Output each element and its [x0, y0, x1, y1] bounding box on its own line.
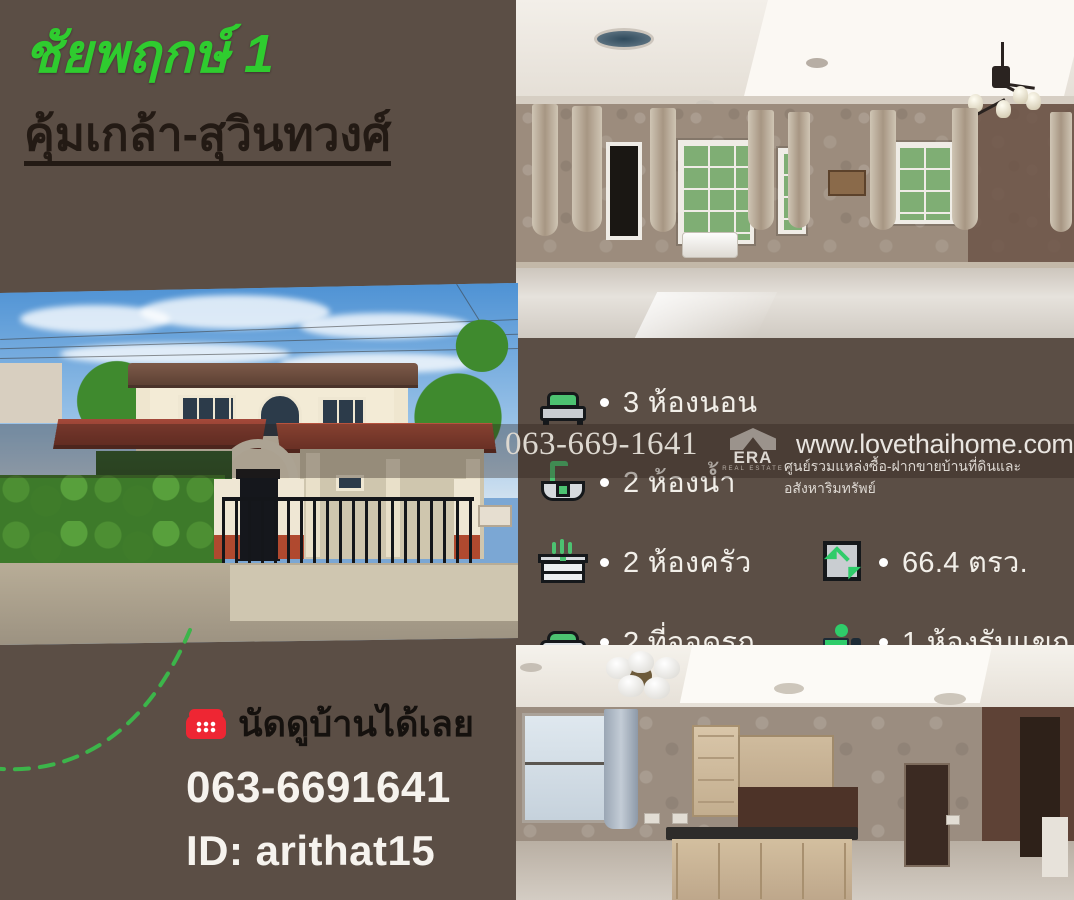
cta-row: นัดดูบ้านได้เลย — [186, 695, 474, 752]
curtain — [604, 709, 638, 829]
power-outlet — [946, 815, 960, 825]
curtain — [532, 104, 558, 236]
ceiling-vent-icon — [594, 28, 654, 50]
property-poster: ชัยพฤกษ์ 1 คุ้มเกล้า-สุวินทวงศ์ — [0, 0, 1074, 900]
feature-kitchens: 2 ห้องครัว — [516, 522, 795, 602]
bullet-dot — [600, 398, 609, 407]
downlight-icon — [806, 58, 828, 68]
power-outlet — [672, 813, 688, 824]
stove-icon — [538, 539, 588, 585]
driveway — [230, 565, 518, 621]
chandelier-icon — [966, 42, 1036, 112]
window — [522, 713, 614, 823]
contact-line-id[interactable]: ID: arithat15 — [186, 827, 435, 875]
feature-label: 66.4 ตรว. — [902, 539, 1028, 585]
cta-text: นัดดูบ้านได้เลย — [238, 695, 474, 752]
neighbor-house — [0, 363, 62, 423]
curtain — [788, 112, 810, 228]
photo-living-room — [516, 0, 1074, 338]
curtain — [952, 108, 978, 230]
bullet-dot — [879, 558, 888, 567]
feature-label: 2 ห้องครัว — [623, 539, 752, 585]
stair-railing — [1042, 817, 1068, 877]
curtain — [870, 110, 896, 230]
power-outlet — [644, 813, 660, 824]
floor-tiles — [516, 268, 1074, 338]
curtain — [572, 106, 602, 232]
era-logo: ERA REAL ESTATE — [716, 428, 790, 476]
bar-counter-cabinets — [672, 839, 852, 900]
mailbox — [478, 505, 512, 527]
window-dark — [606, 142, 642, 240]
project-name: ชัยพฤกษ์ 1 — [24, 26, 502, 83]
roof-main — [128, 363, 418, 385]
curtain — [650, 108, 676, 232]
air-conditioner — [682, 232, 738, 258]
feature-land-area: 66.4 ตรว. — [795, 522, 1074, 602]
title-block: ชัยพฤกษ์ 1 คุ้มเกล้า-สุวินทวงศ์ — [0, 0, 520, 240]
photo-kitchen — [516, 645, 1074, 900]
downlight-icon — [774, 683, 804, 694]
bullet-dot — [600, 558, 609, 567]
window-garden-right — [894, 142, 956, 224]
iron-gate — [222, 497, 474, 567]
palm-tree — [446, 317, 518, 389]
area-icon — [817, 539, 867, 585]
telephone-icon — [186, 709, 226, 739]
project-location: คุ้มเกล้า-สุวินทวงศ์ — [24, 109, 391, 167]
era-brand: ERA — [716, 448, 790, 468]
watermark-tagline: ศูนย์รวมแหล่งซื้อ-ฝากขายบ้านที่ดินและอสั… — [784, 456, 1074, 500]
hedge — [0, 475, 225, 573]
downlight-icon — [520, 663, 542, 672]
features-grid: 3 ห้องนอน 2 ห้องน้ำ — [516, 362, 1074, 682]
downlight-icon — [934, 693, 966, 705]
contact-phone[interactable]: 063-6691641 — [186, 763, 451, 813]
window-garden-center — [678, 140, 754, 244]
era-brand-sub: REAL ESTATE — [716, 466, 790, 472]
bed-icon — [538, 379, 588, 425]
floor-reflection — [635, 292, 777, 338]
bullet-dot — [600, 478, 609, 487]
house-chevron-icon — [730, 428, 776, 450]
curtain — [748, 110, 774, 230]
contact-block: นัดดูบ้านได้เลย 063-6691641 ID: arithat1… — [0, 645, 516, 900]
wall-shelf — [828, 170, 866, 196]
watermark-phone: 063-669-1641 — [505, 426, 698, 463]
kitchen-upper-cabinet — [692, 725, 740, 817]
doorway — [904, 763, 950, 867]
curtain — [1050, 112, 1072, 232]
feature-label: 3 ห้องนอน — [623, 379, 757, 425]
